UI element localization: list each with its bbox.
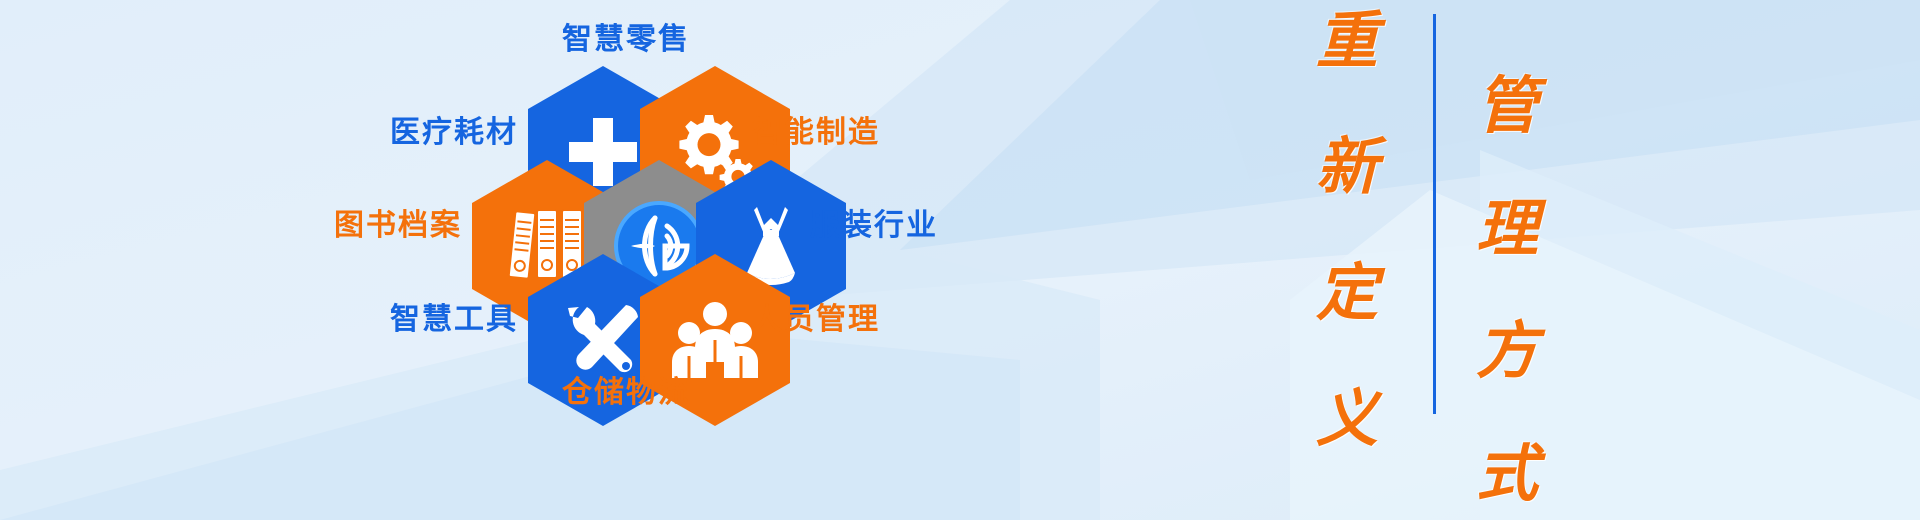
headline-char: 理: [1476, 198, 1538, 260]
headline-column-management: 管 理 方 式: [1447, 75, 1567, 505]
headline-divider: [1433, 14, 1436, 414]
label-library-archives: 图书档案: [322, 200, 462, 244]
headline-char: 新: [1316, 136, 1378, 198]
headline-char: 义: [1316, 388, 1378, 450]
label-personnel-management: 人员管理: [752, 294, 880, 338]
headline-char: 管: [1476, 75, 1538, 137]
label-smart-retail: 智慧零售: [562, 14, 690, 58]
headline-calligraphy: 重 新 定 义 管 理 方 式: [1285, 0, 1615, 520]
label-smart-manufacturing: 智能制造: [752, 107, 880, 151]
headline-char: 式: [1476, 443, 1538, 505]
label-apparel-industry: 服装行业: [810, 200, 938, 244]
headline-char: 定: [1316, 262, 1378, 324]
headline-char: 重: [1316, 10, 1378, 72]
banner-root: 智慧零售 医疗耗材 智: [0, 0, 1920, 520]
hexagon-cluster: 智慧零售 医疗耗材 智: [0, 0, 1100, 520]
headline-char: 方: [1476, 320, 1538, 382]
label-smart-tools: 智慧工具: [378, 294, 518, 338]
headline-column-redefine: 重 新 定 义: [1287, 10, 1407, 450]
label-medical-supplies: 医疗耗材: [378, 107, 518, 151]
label-warehouse-logistics: 仓储物流: [562, 367, 690, 411]
